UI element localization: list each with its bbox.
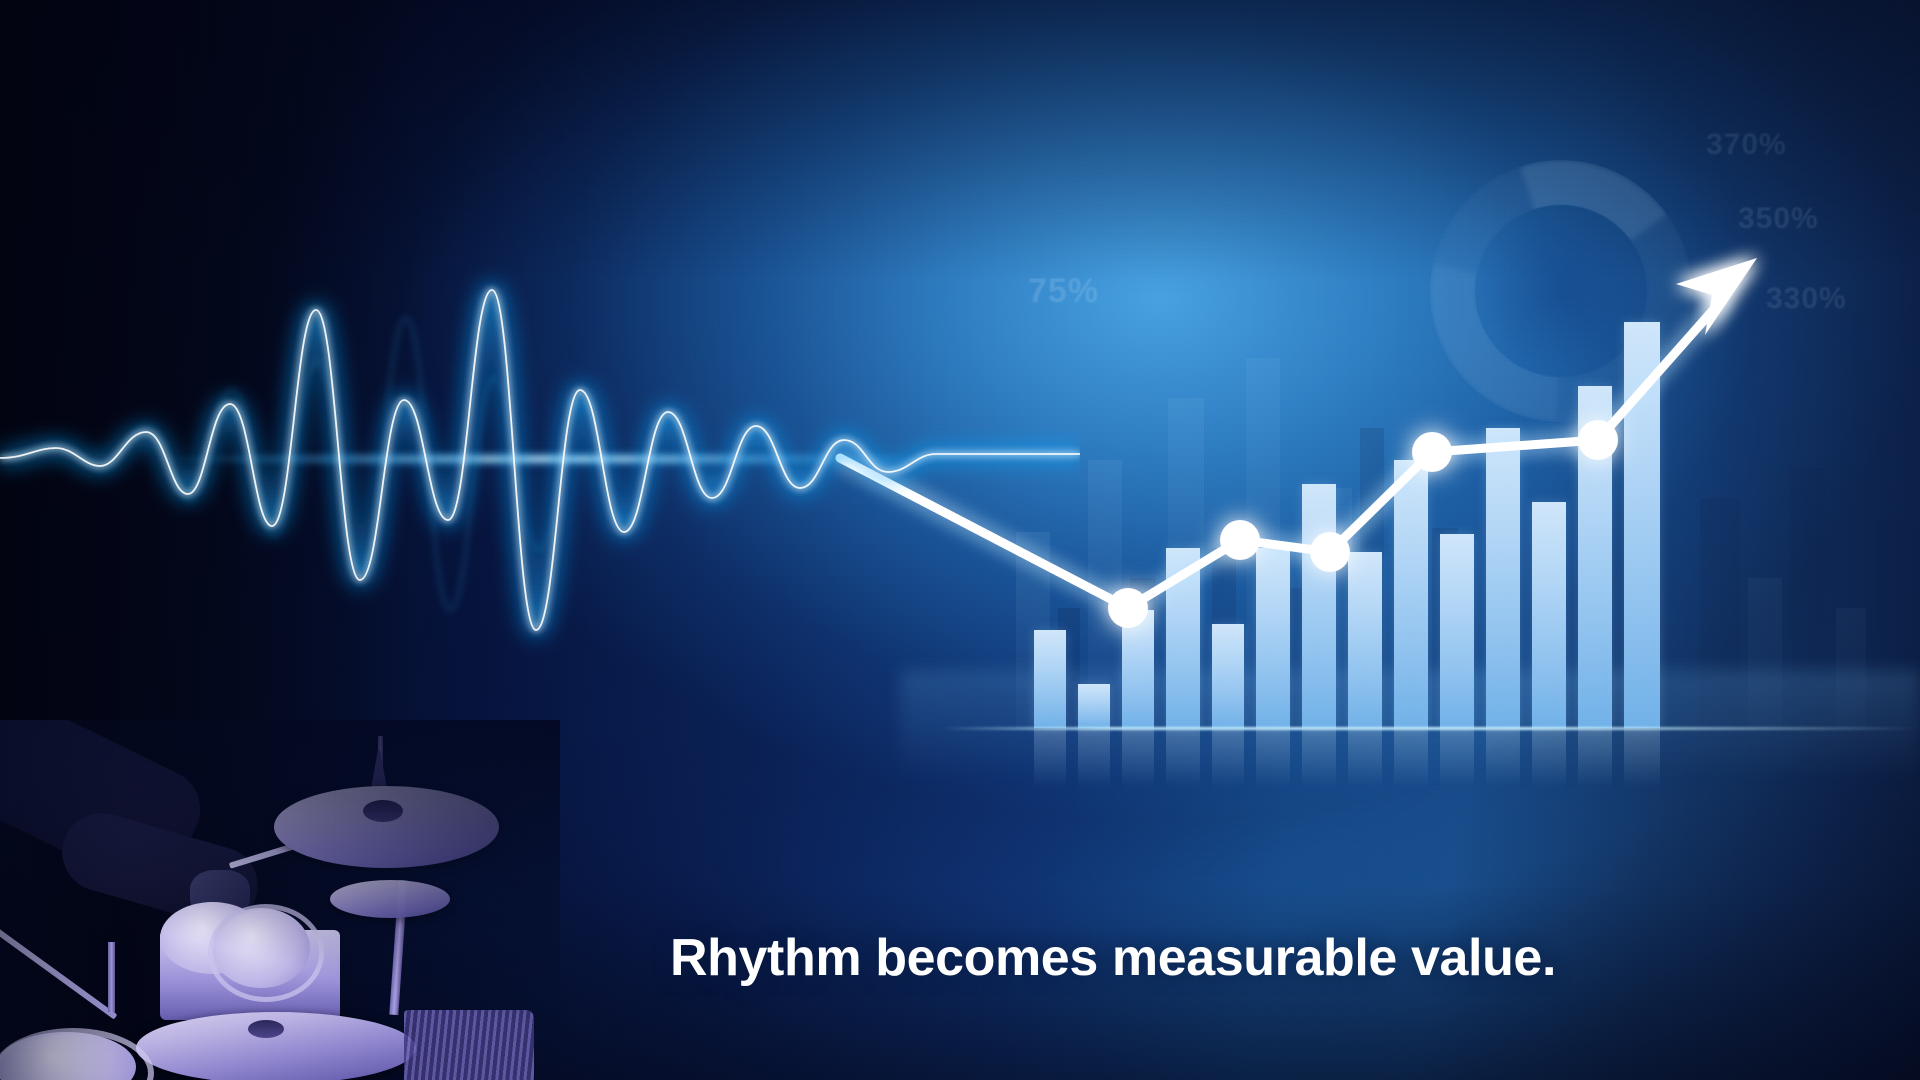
background-grain xyxy=(0,0,1920,1080)
headline-text: Rhythm becomes measurable value. xyxy=(670,928,1556,988)
hero-banner: 75% 370% 350% 330% xyxy=(0,0,1920,1080)
